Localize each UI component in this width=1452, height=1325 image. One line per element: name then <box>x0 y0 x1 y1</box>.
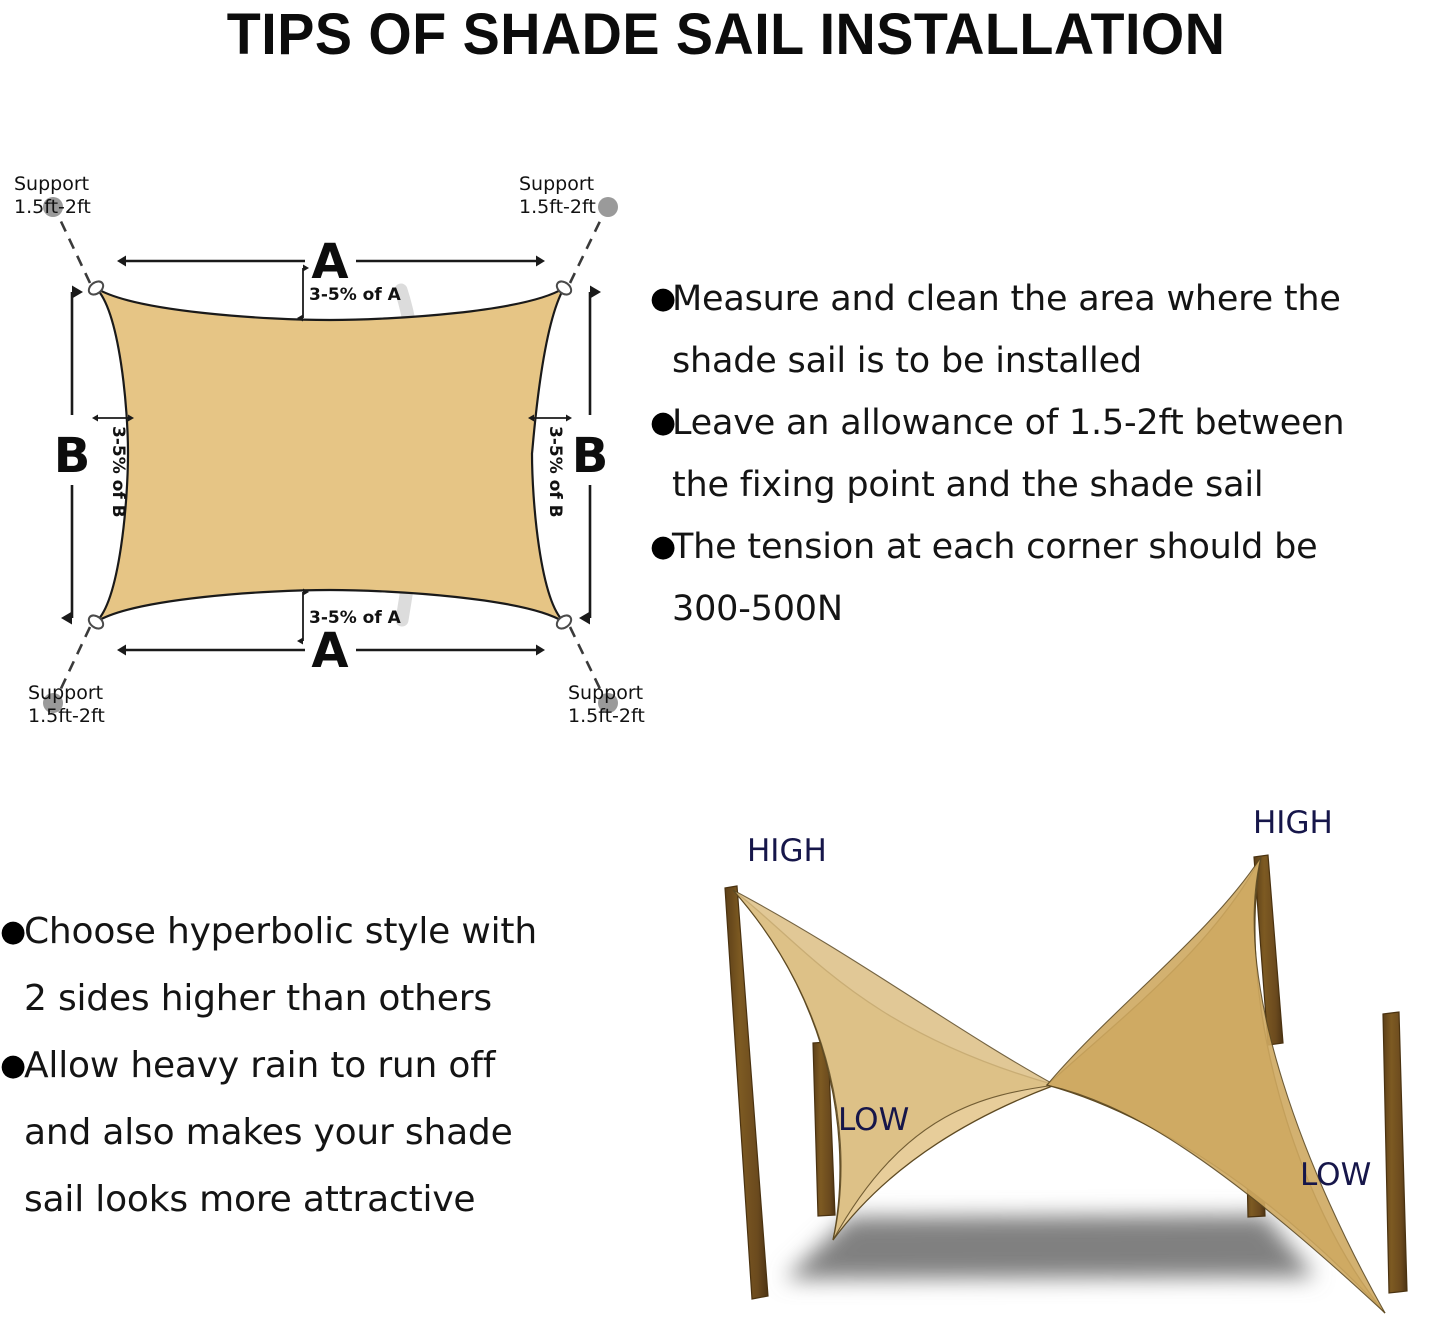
hyperbolic-sail-diagram: HIGH HIGH LOW LOW <box>655 785 1452 1325</box>
callout-right-sag: 3-5% of B <box>534 418 566 518</box>
pole-low-right <box>1383 1012 1407 1293</box>
tip-line: the fixing point and the shade sail <box>672 465 1263 505</box>
bullet-icon: ● <box>650 268 672 330</box>
tips-list-bottom: ● Choose hyperbolic style with 2 sides h… <box>0 898 640 1233</box>
tip-line: Leave an allowance of 1.5-2ft between <box>672 403 1344 443</box>
support-label-bottom-right-line1: Support <box>568 682 643 704</box>
callout-label-right-sag: 3-5% of B <box>545 426 565 518</box>
support-label-bottom-right: Support 1.5ft-2ft <box>568 682 645 727</box>
shade-sail-left <box>733 890 1055 1240</box>
support-label-bottom-left: Support 1.5ft-2ft <box>28 682 105 727</box>
bullet-icon: ● <box>0 1032 24 1099</box>
bullet-icon: ● <box>650 516 672 578</box>
dimension-label-right-b: B <box>572 428 609 484</box>
tip-text-3: The tension at each corner should be 300… <box>672 516 1452 640</box>
list-item: ● The tension at each corner should be 3… <box>650 516 1452 640</box>
title-bar: TIPS OF SHADE SAIL INSTALLATION <box>0 0 1452 70</box>
rect-diagram-svg: Support 1.5ft-2ft Support 1.5ft-2ft Supp… <box>0 160 660 730</box>
list-item: ● Leave an allowance of 1.5-2ft between … <box>650 392 1452 516</box>
dimension-label-bottom-a: A <box>311 623 348 679</box>
shade-sail-body <box>96 288 564 622</box>
pole-high-left <box>725 886 768 1299</box>
tip-text-2: Leave an allowance of 1.5-2ft between th… <box>672 392 1452 516</box>
dimension-label-left-b: B <box>54 428 91 484</box>
dimension-right-b: B <box>572 292 609 618</box>
support-label-bottom-left-line1: Support <box>28 682 103 704</box>
label-high-left: HIGH <box>747 833 827 869</box>
tip-line: 2 sides higher than others <box>24 978 492 1019</box>
callout-left-sag: 3-5% of B <box>98 418 128 518</box>
support-label-bottom-right-line2: 1.5ft-2ft <box>568 705 645 727</box>
bullet-icon: ● <box>0 898 24 965</box>
support-label-top-left-line2: 1.5ft-2ft <box>14 196 91 218</box>
list-item: ● Choose hyperbolic style with 2 sides h… <box>0 898 640 1032</box>
label-low-left: LOW <box>838 1102 909 1138</box>
support-label-top-right-line1: Support <box>519 173 594 195</box>
bullet-icon: ● <box>650 392 672 454</box>
support-label-top-right: Support 1.5ft-2ft <box>519 173 596 218</box>
page-title: TIPS OF SHADE SAIL INSTALLATION <box>227 5 1226 65</box>
callout-label-left-sag: 3-5% of B <box>108 426 128 518</box>
tip-line: The tension at each corner should be <box>672 527 1317 567</box>
label-high-right: HIGH <box>1253 805 1333 841</box>
rectangular-sail-diagram: Support 1.5ft-2ft Support 1.5ft-2ft Supp… <box>0 160 660 730</box>
support-label-top-left-line1: Support <box>14 173 89 195</box>
tip-line: Choose hyperbolic style with <box>24 911 537 952</box>
support-label-bottom-left-line2: 1.5ft-2ft <box>28 705 105 727</box>
dimension-bottom-a: A <box>126 623 536 679</box>
callout-label-bottom-sag: 3-5% of A <box>309 608 402 628</box>
tip-line: Allow heavy rain to run off <box>24 1045 495 1086</box>
ground-shadow <box>785 1215 1315 1279</box>
callout-label-top-sag: 3-5% of A <box>309 285 402 305</box>
tip-line: 300-500N <box>672 589 843 629</box>
tips-list-top: ● Measure and clean the area where the s… <box>650 268 1452 640</box>
label-low-right: LOW <box>1300 1157 1371 1193</box>
hyper-diagram-svg: HIGH HIGH LOW LOW <box>655 785 1452 1325</box>
list-item: ● Allow heavy rain to run off and also m… <box>0 1032 640 1233</box>
tip-line: shade sail is to be installed <box>672 341 1142 381</box>
tip-line: and also makes your shade <box>24 1112 513 1153</box>
tip-text-5: Allow heavy rain to run off and also mak… <box>24 1032 640 1233</box>
support-label-top-right-line2: 1.5ft-2ft <box>519 196 596 218</box>
tip-line: Measure and clean the area where the <box>672 279 1341 319</box>
tip-line: sail looks more attractive <box>24 1179 475 1220</box>
dimension-top-a: A <box>126 234 536 290</box>
tip-text-4: Choose hyperbolic style with 2 sides hig… <box>24 898 640 1032</box>
dimension-left-b: B <box>54 292 91 618</box>
support-label-top-left: Support 1.5ft-2ft <box>14 173 91 218</box>
list-item: ● Measure and clean the area where the s… <box>650 268 1452 392</box>
tip-text-1: Measure and clean the area where the sha… <box>672 268 1452 392</box>
dimension-label-top-a: A <box>311 234 348 290</box>
